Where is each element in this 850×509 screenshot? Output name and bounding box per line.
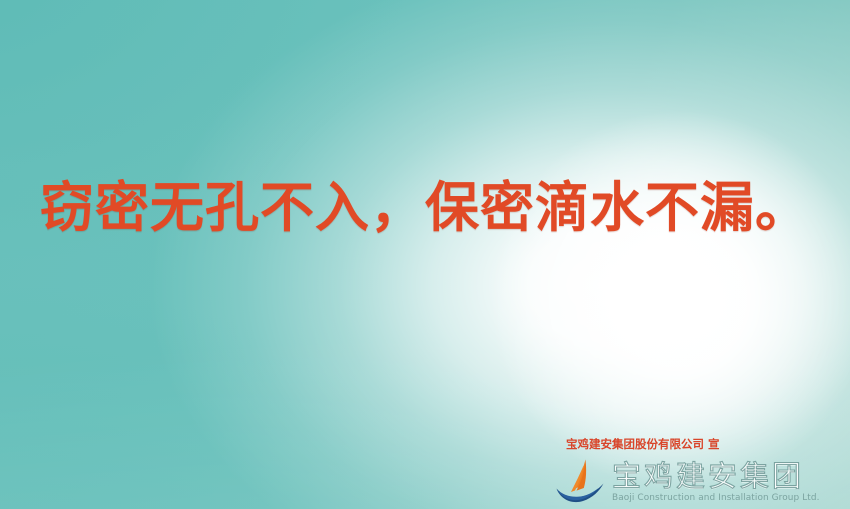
- company-logo: 宝鸡建安集团 Baoji Construction and Installati…: [552, 457, 844, 507]
- company-name-line: 宝鸡建安集团股份有限公司 宣: [566, 436, 844, 452]
- poster-slide: 窃密无孔不入，保密滴水不漏。 宝鸡建安集团股份有限公司 宣 宝鸡建安集团 Bao…: [0, 0, 850, 509]
- logo-wordmark: 宝鸡建安集团 Baoji Construction and Installati…: [612, 462, 844, 503]
- logo-wordmark-english: Baoji Construction and Installation Grou…: [612, 493, 837, 503]
- background-sheen: [0, 0, 850, 509]
- logo-wordmark-chinese: 宝鸡建安集团: [612, 462, 844, 491]
- main-slogan: 窃密无孔不入，保密滴水不漏。: [0, 178, 850, 238]
- sail-and-wave-logo-icon: [552, 457, 608, 507]
- brand-block: 宝鸡建安集团股份有限公司 宣 宝鸡建安集团 Baoji Construction…: [552, 436, 844, 507]
